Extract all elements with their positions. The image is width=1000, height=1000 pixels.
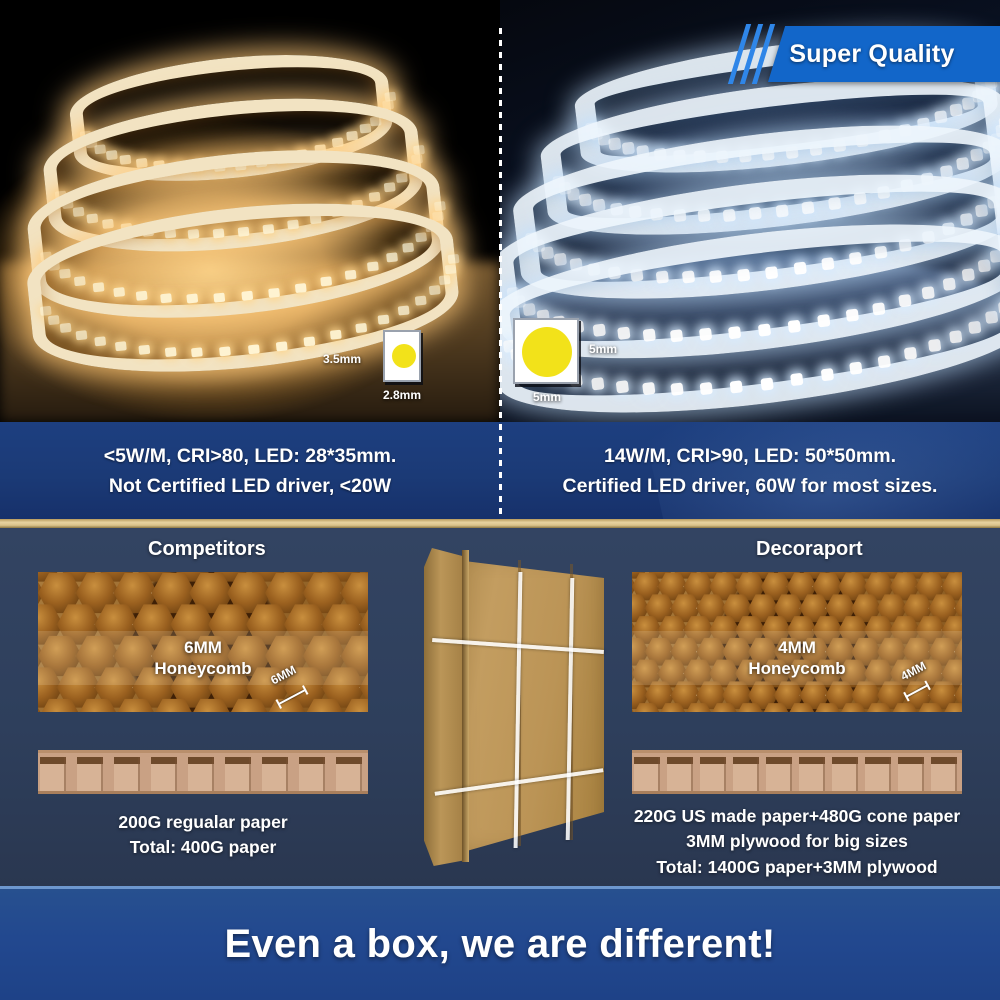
- chip-width-label-right: 5mm: [533, 390, 561, 404]
- cool-led-dot: [949, 330, 962, 343]
- cross-section-cell: [799, 757, 825, 793]
- chip-phosphor-dot-right: [522, 327, 572, 377]
- warm-strip-reel: [6, 36, 464, 369]
- decoraport-foot-line3: Total: 1400G paper+3MM plywood: [656, 857, 937, 877]
- competitor-foot-line2: Total: 400G paper: [130, 837, 277, 857]
- photo-comparison-row: Super Quality 3.5mm 2.8mm 5mm 5mm: [0, 0, 1000, 422]
- decoraport-footnote: 220G US made paper+480G cone paper 3MM p…: [600, 804, 994, 880]
- box-corner-edge: [462, 550, 469, 862]
- led-strip-comparison-infographic: Super Quality 3.5mm 2.8mm 5mm 5mm <5W/M,…: [0, 0, 1000, 1000]
- warm-led-dot: [139, 345, 151, 355]
- warm-led-dot: [377, 314, 389, 324]
- cardboard-box-image: [418, 548, 608, 873]
- cross-section-cell: [188, 757, 214, 793]
- warm-led-dot: [164, 347, 176, 357]
- cool-led-dot: [642, 382, 655, 395]
- cross-section-cell: [262, 757, 288, 793]
- warm-led-dot: [248, 345, 260, 355]
- chip-width-label-left: 2.8mm: [383, 388, 421, 402]
- cool-led-dot: [968, 321, 981, 334]
- spec-left-line2: Not Certified LED driver, <20W: [109, 475, 391, 498]
- cross-section-cell: [299, 757, 325, 793]
- cross-section-cell: [865, 757, 891, 793]
- spec-right-line1: 14W/M, CRI>90, LED: 50*50mm.: [604, 445, 896, 468]
- cross-section-cell: [766, 757, 792, 793]
- warm-led-dot: [191, 348, 203, 358]
- warm-white-strip-photo: [0, 0, 500, 422]
- cool-led-dot: [592, 377, 605, 390]
- cool-led-dot: [760, 377, 773, 390]
- warm-led-dot: [445, 264, 457, 274]
- warm-led-dot: [94, 336, 106, 346]
- cross-section-cell: [733, 757, 759, 793]
- warm-led-dot: [330, 330, 342, 340]
- warm-led-dot: [414, 295, 426, 305]
- warm-led-dot: [439, 275, 451, 285]
- cool-led-dot: [791, 373, 804, 386]
- cross-section-cell: [931, 757, 957, 793]
- cross-section-cell: [634, 757, 660, 793]
- cool-led-dot: [985, 311, 998, 324]
- led-chip-inset-right: 5mm 5mm: [513, 318, 579, 384]
- warm-led-dot: [276, 341, 288, 351]
- column-title-decoraport: Decoraport: [756, 538, 863, 561]
- chip-height-label-right: 5mm: [589, 342, 617, 356]
- warm-led-dot: [60, 323, 72, 333]
- decoraport-comb-line1: 4MM: [778, 638, 816, 657]
- warm-led-dot: [48, 315, 60, 325]
- spec-caption-competitor: <5W/M, CRI>80, LED: 28*35mm. Not Certifi…: [0, 422, 500, 521]
- cross-section-cell: [832, 757, 858, 793]
- warm-led-dot: [304, 336, 316, 346]
- cross-section-cell: [700, 757, 726, 793]
- cool-led-dot: [821, 368, 834, 381]
- decoraport-comb-line2: Honeycomb: [748, 659, 845, 678]
- vertical-dashed-divider: [499, 28, 502, 518]
- cool-led-dot: [928, 339, 941, 352]
- warm-led-dot: [397, 305, 409, 315]
- led-chip-inset-left: 3.5mm 2.8mm: [383, 330, 421, 382]
- cool-led-dot: [904, 347, 917, 360]
- tagline-banner: Even a box, we are different!: [0, 889, 1000, 1000]
- cool-led-dot: [850, 362, 863, 375]
- cross-section-cell: [77, 757, 103, 793]
- cross-section-cell: [225, 757, 251, 793]
- warm-led-dot: [75, 330, 87, 340]
- competitor-cross-section: [38, 750, 368, 794]
- warm-led-dot: [384, 92, 396, 102]
- decoraport-cross-section: [632, 750, 962, 794]
- warm-led-dot: [428, 285, 440, 295]
- competitor-foot-line1: 200G regualar paper: [118, 812, 287, 832]
- spec-caption-decoraport: 14W/M, CRI>90, LED: 50*50mm. Certified L…: [500, 422, 1000, 521]
- spec-left-line1: <5W/M, CRI>80, LED: 28*35mm.: [104, 445, 397, 468]
- cool-led-dot: [616, 380, 629, 393]
- warm-led-dot: [219, 347, 231, 357]
- competitor-comb-line2: Honeycomb: [154, 659, 251, 678]
- chip-height-label-left: 3.5mm: [323, 352, 361, 366]
- cross-section-cell: [667, 757, 693, 793]
- cross-section-cell: [40, 757, 66, 793]
- decoraport-foot-line1: 220G US made paper+480G cone paper: [634, 806, 960, 826]
- competitor-comb-caption: 6MM Honeycomb: [38, 631, 368, 686]
- chip-diagram-right: [513, 318, 579, 384]
- chip-diagram-left: [383, 330, 421, 382]
- cross-section-cell: [151, 757, 177, 793]
- warm-led-dot: [355, 322, 367, 332]
- warm-led-dot: [448, 254, 460, 264]
- chip-phosphor-dot-left: [392, 344, 416, 368]
- cross-section-cell: [898, 757, 924, 793]
- warm-led-dot: [40, 306, 52, 316]
- competitor-honeycomb-photo: 6MM Honeycomb 6MM: [38, 572, 368, 712]
- warm-led-dot: [411, 154, 423, 164]
- competitor-comb-line1: 6MM: [184, 638, 222, 657]
- cool-led-dot: [670, 382, 683, 395]
- warm-led-dot: [434, 201, 446, 211]
- decoraport-foot-line2: 3MM plywood for big sizes: [686, 831, 908, 851]
- cross-section-cell: [336, 757, 362, 793]
- column-title-competitors: Competitors: [148, 538, 266, 561]
- decoraport-honeycomb-photo: 4MM Honeycomb 4MM: [632, 572, 962, 712]
- competitor-footnote: 200G regualar paper Total: 400G paper: [38, 810, 368, 861]
- warm-led-dot: [115, 341, 127, 351]
- cool-led-dot: [877, 355, 890, 368]
- warm-led-dot: [413, 145, 425, 155]
- cool-led-dot: [730, 380, 743, 393]
- banner-label: Super Quality: [762, 26, 982, 82]
- cross-section-cell: [114, 757, 140, 793]
- cool-led-dot: [700, 382, 713, 395]
- box-front-face: [456, 554, 604, 854]
- spec-right-line2: Certified LED driver, 60W for most sizes…: [563, 475, 938, 498]
